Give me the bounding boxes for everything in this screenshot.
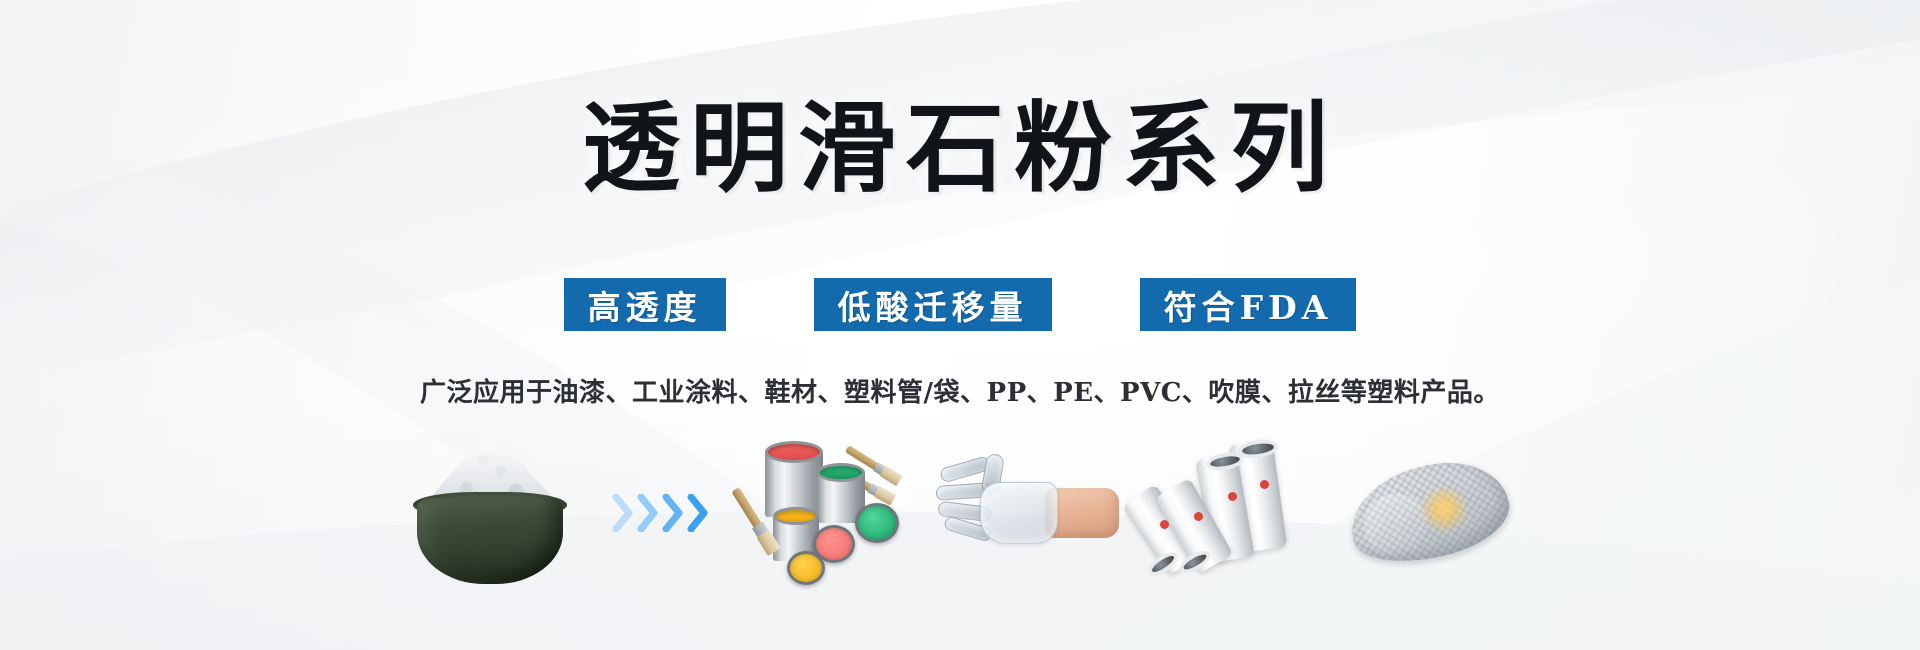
title-container: 透明滑石粉系列 (0, 96, 1920, 202)
product-shoe-sole (1330, 425, 1530, 600)
film-rolls-icon (1140, 440, 1320, 585)
paint-surface-yellow (773, 507, 819, 525)
badge-low-acid-migration[interactable]: 低酸迁移量 (814, 278, 1052, 331)
paint-lid-yellow (787, 551, 825, 585)
chevron-right-icon (662, 494, 684, 532)
process-arrows (590, 425, 730, 600)
product-image-strip (0, 425, 1920, 600)
paint-surface-red (765, 441, 823, 463)
chevron-right-icon (687, 494, 709, 532)
badge-fda-compliant[interactable]: 符合FDA (1140, 278, 1357, 331)
product-banner: 透明滑石粉系列 高透度 低酸迁移量 符合FDA 广泛应用于油漆、工业涂料、鞋材、… (0, 0, 1920, 650)
product-paint-cans (730, 425, 930, 600)
page-title: 透明滑石粉系列 (582, 96, 1338, 202)
sole-highlight (1421, 486, 1467, 532)
roll-brand-dot (1194, 512, 1203, 521)
feature-badge-row: 高透度 低酸迁移量 符合FDA (0, 278, 1920, 331)
glove-palm (980, 482, 1058, 544)
roll-brand-dot (1228, 492, 1237, 501)
paint-surface-green (817, 463, 865, 482)
chevron-group (612, 494, 709, 532)
chevron-right-icon (612, 494, 634, 532)
product-talc-powder-bowl (390, 425, 590, 600)
paint-cans-icon (743, 433, 918, 593)
talc-bowl-icon (395, 438, 585, 588)
product-plastic-glove (930, 425, 1130, 600)
shoe-sole-icon (1343, 450, 1518, 575)
applications-subtitle: 广泛应用于油漆、工业涂料、鞋材、塑料管/袋、PP、PE、PVC、吹膜、拉丝等塑料… (0, 372, 1920, 409)
badge-high-transparency[interactable]: 高透度 (564, 278, 726, 331)
plastic-glove-icon (938, 448, 1123, 578)
roll-brand-dot (1160, 520, 1169, 529)
product-film-rolls (1130, 425, 1330, 600)
chevron-right-icon (637, 494, 659, 532)
roll-brand-dot (1260, 480, 1269, 489)
bowl-body (417, 498, 563, 584)
paint-lid-green (855, 503, 899, 543)
